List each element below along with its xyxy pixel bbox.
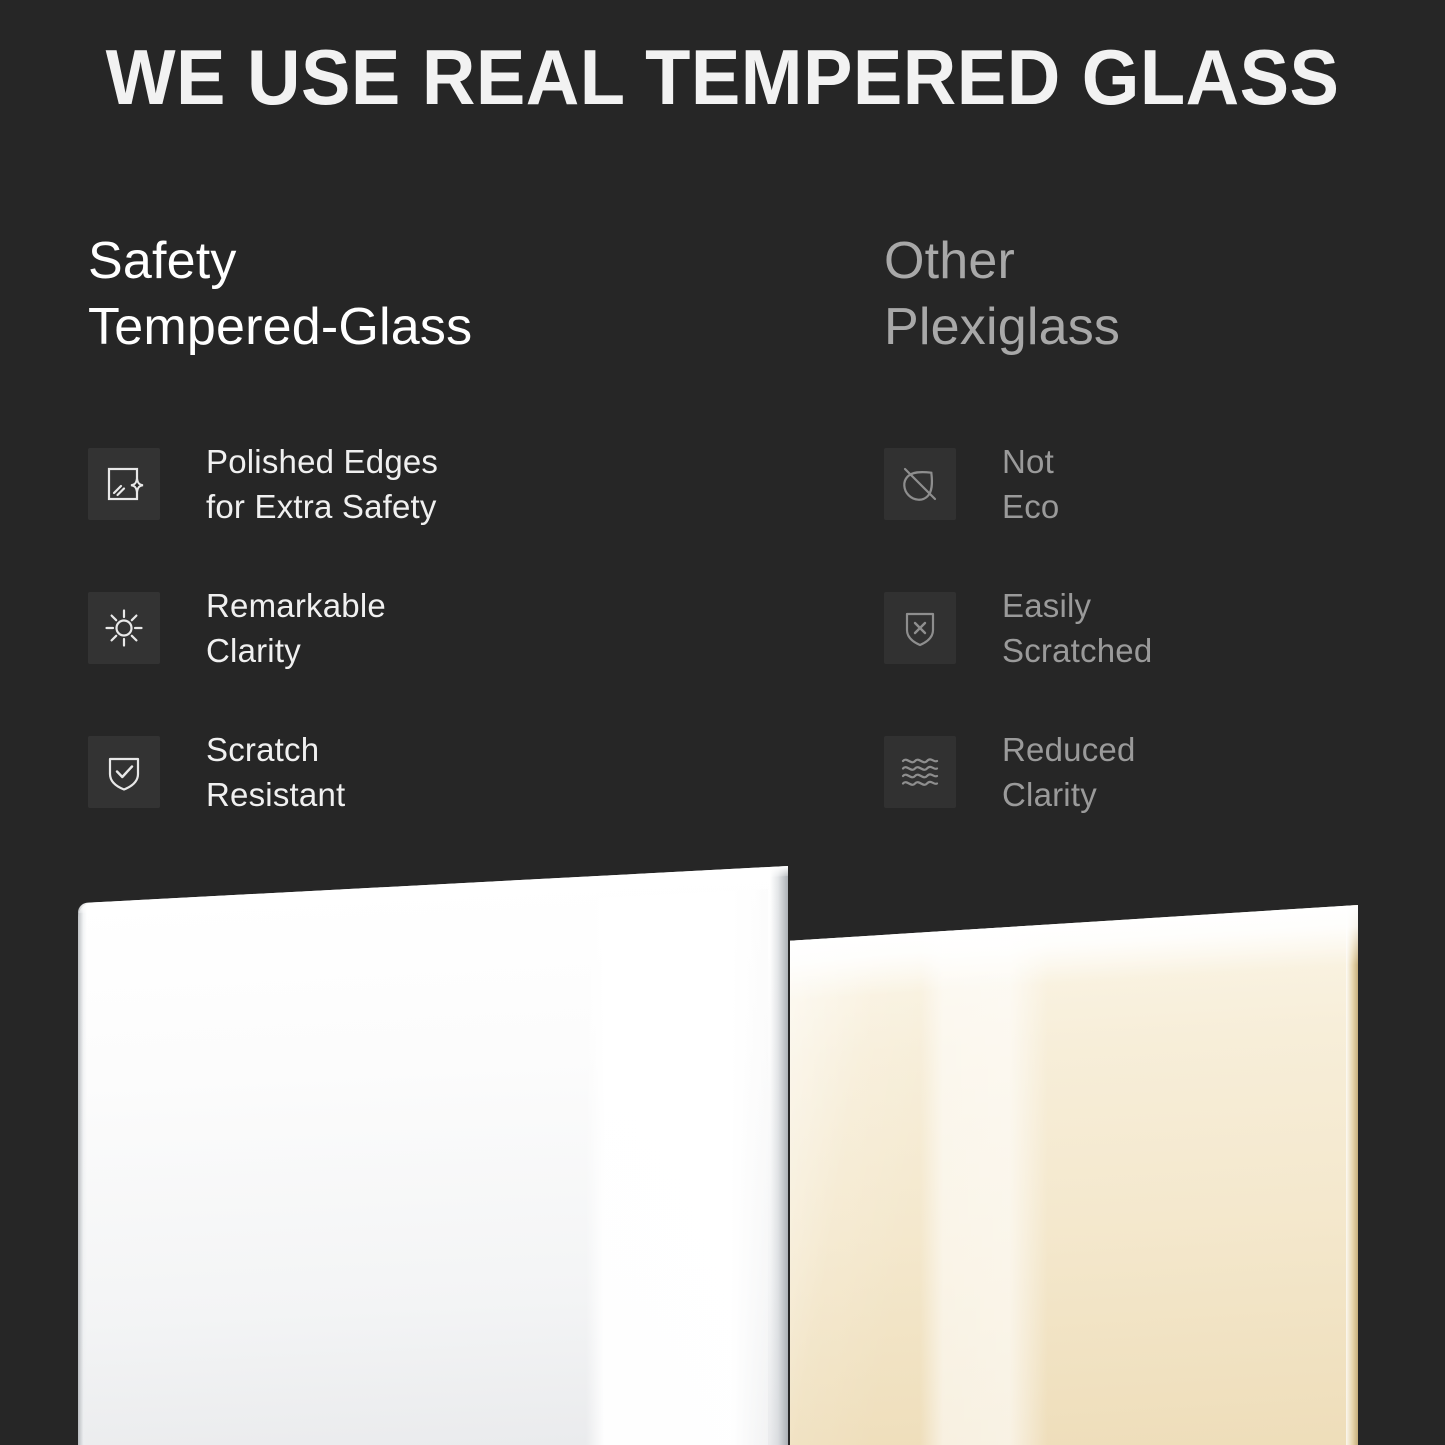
feature-label-line2: Resistant [206, 772, 345, 817]
feature-label: Remarkable Clarity [206, 583, 386, 673]
feature-label-line1: Not [1002, 443, 1054, 480]
column-heading-line1: Safety [88, 232, 237, 290]
feature-label-line1: Easily [1002, 587, 1091, 624]
feature-label: Easily Scratched [1002, 583, 1152, 673]
tempered-glass-reflection [586, 889, 768, 1445]
column-heading-line1: Other [884, 232, 1015, 290]
feature-label-line2: Clarity [1002, 772, 1136, 817]
sun-brightness-icon [88, 592, 160, 664]
polished-glass-sparkle-icon [88, 448, 160, 520]
feature-list-plexiglass: Not Eco Easily Scratched [884, 448, 1445, 808]
page-title: WE USE REAL TEMPERED GLASS [36, 38, 1409, 116]
feature-label-line1: Scratch [206, 731, 319, 768]
feature-label-line2: for Extra Safety [206, 484, 438, 529]
plexiglass-right-edge [1346, 905, 1358, 1445]
glass-panels-photo [0, 820, 1445, 1445]
tempered-glass-comparison-infographic: WE USE REAL TEMPERED GLASS Safety Temper… [0, 0, 1445, 1445]
feature-item: Polished Edges for Extra Safety [88, 448, 708, 520]
column-plexiglass: Other Plexiglass Not Eco [884, 228, 1445, 360]
feature-label-line1: Polished Edges [206, 443, 438, 480]
feature-item: Reduced Clarity [884, 736, 1445, 808]
wavy-lines-icon [884, 736, 956, 808]
column-heading-line2: Tempered-Glass [88, 294, 708, 360]
feature-item: Not Eco [884, 448, 1445, 520]
column-tempered-glass: Safety Tempered-Glass Polis [88, 228, 708, 360]
column-heading-plexiglass: Other Plexiglass [884, 228, 1445, 360]
plexiglass-reflection [920, 925, 1048, 1445]
feature-label: Reduced Clarity [1002, 727, 1136, 817]
plexiglass-top-highlight [790, 905, 1358, 1001]
tempered-glass-right-edge [770, 866, 788, 1445]
feature-label-line2: Eco [1002, 484, 1059, 529]
feature-label: Polished Edges for Extra Safety [206, 439, 438, 529]
feature-list-tempered-glass: Polished Edges for Extra Safety [88, 448, 708, 808]
shield-x-icon [884, 592, 956, 664]
feature-label-line2: Clarity [206, 628, 386, 673]
leaf-crossed-out-icon [884, 448, 956, 520]
column-heading-line2: Plexiglass [884, 294, 1445, 360]
column-heading-tempered-glass: Safety Tempered-Glass [88, 228, 708, 360]
feature-label: Not Eco [1002, 439, 1059, 529]
feature-label-line1: Reduced [1002, 731, 1136, 768]
feature-item: Remarkable Clarity [88, 592, 708, 664]
feature-item: Easily Scratched [884, 592, 1445, 664]
feature-item: Scratch Resistant [88, 736, 708, 808]
feature-label-line2: Scratched [1002, 628, 1152, 673]
tempered-glass-left-edge [78, 903, 87, 1445]
comparison-columns: Safety Tempered-Glass Polis [0, 228, 1445, 828]
feature-label: Scratch Resistant [206, 727, 345, 817]
shield-check-icon [88, 736, 160, 808]
feature-label-line1: Remarkable [206, 587, 386, 624]
plexiglass-panel [790, 905, 1358, 1445]
tempered-glass-panel [78, 866, 788, 1445]
